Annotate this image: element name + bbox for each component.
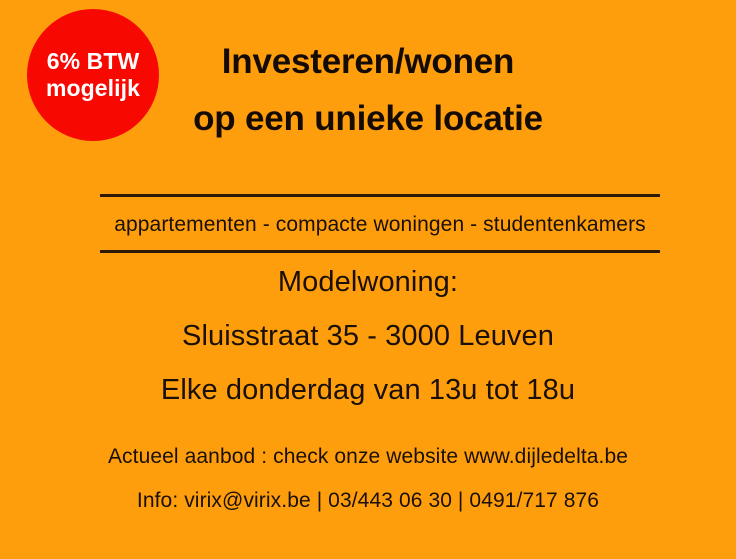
model-home-label: Modelwoning: <box>0 268 736 297</box>
model-home-address: Sluisstraat 35 - 3000 Leuven <box>0 322 736 351</box>
advertisement-poster: 6% BTW mogelijk Investeren/wonen op een … <box>0 0 736 559</box>
divider-bottom <box>100 250 660 253</box>
headline-block: Investeren/wonen op een unieke locatie <box>0 44 736 136</box>
model-home-hours: Elke donderdag van 13u tot 18u <box>0 376 736 405</box>
categories-strip: appartementen - compacte woningen - stud… <box>100 194 660 253</box>
model-home-info: Modelwoning: Sluisstraat 35 - 3000 Leuve… <box>0 268 736 405</box>
website-line: Actueel aanbod : check onze website www.… <box>0 446 736 467</box>
headline-line-2: op een unieke locatie <box>0 101 736 136</box>
footer-contact-block: Actueel aanbod : check onze website www.… <box>0 446 736 511</box>
contact-line: Info: virix@virix.be | 03/443 06 30 | 04… <box>0 490 736 511</box>
headline-line-1: Investeren/wonen <box>0 44 736 79</box>
categories-text: appartementen - compacte woningen - stud… <box>100 197 660 250</box>
